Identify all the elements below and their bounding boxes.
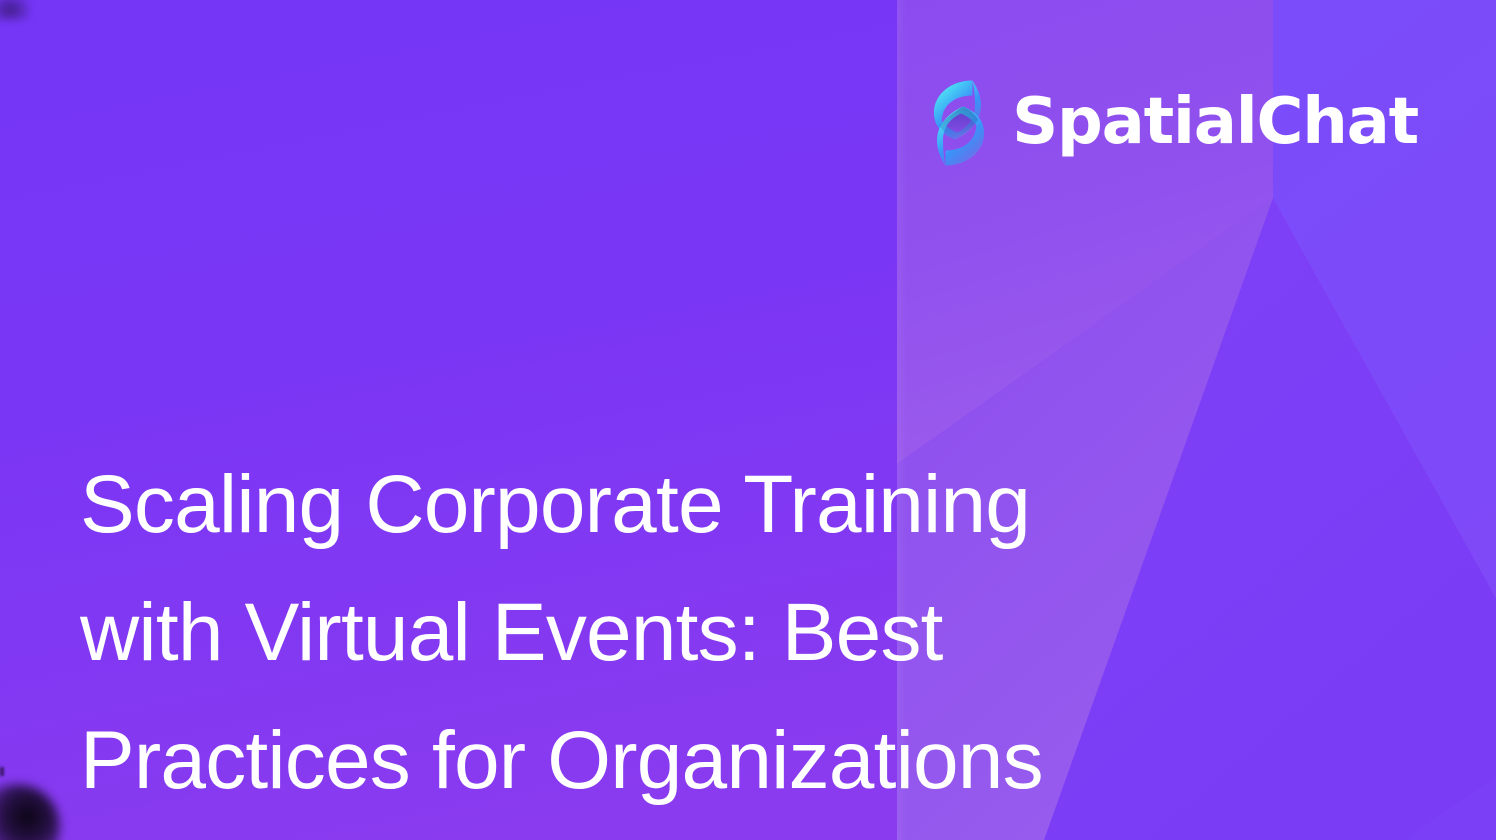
spatialchat-s-swirl-icon <box>928 78 990 168</box>
spatialchat-logo[interactable]: SpatialChat <box>928 78 1418 168</box>
banner-title: Scaling Corporate Training with Virtual … <box>80 441 1280 825</box>
banner-title-line-3: Practices for Organizations <box>80 697 1280 825</box>
banner-title-line-2: with Virtual Events: Best <box>80 569 1280 697</box>
hero-banner: SpatialChat Scaling Corporate Training w… <box>0 0 1496 840</box>
banner-title-line-1: Scaling Corporate Training <box>80 441 1280 569</box>
spatialchat-wordmark: SpatialChat <box>1012 90 1418 154</box>
